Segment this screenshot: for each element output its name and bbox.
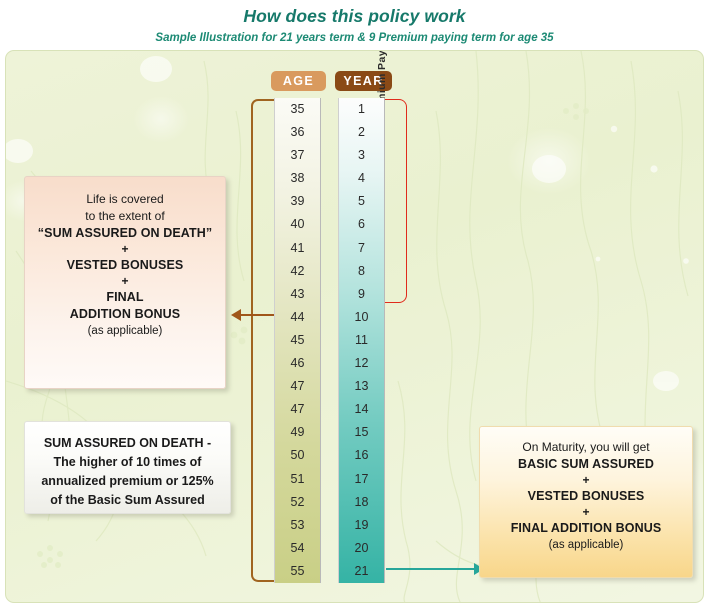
maturity-panel-plus-1: +: [488, 473, 684, 488]
death-definition-line-1: SUM ASSURED ON DEATH -: [33, 434, 222, 453]
year-cell: 11: [339, 329, 384, 352]
age-cell: 42: [275, 260, 320, 283]
death-panel-final: FINAL: [35, 289, 215, 306]
age-cell: 47: [275, 375, 320, 398]
age-cell: 41: [275, 237, 320, 260]
year-cell: 10: [339, 306, 384, 329]
year-column: 123456789101112131415161718192021: [338, 98, 385, 583]
year-cell: 8: [339, 260, 384, 283]
year-cell: 1: [339, 98, 384, 121]
death-panel-vested-bonuses: VESTED BONUSES: [35, 257, 215, 274]
age-cell: 46: [275, 352, 320, 375]
maturity-panel-vested-bonuses: VESTED BONUSES: [488, 488, 684, 505]
year-cell: 6: [339, 213, 384, 236]
age-cell: 45: [275, 329, 320, 352]
year-cell: 21: [339, 560, 384, 583]
death-panel-as-applicable: (as applicable): [35, 323, 215, 340]
page-header: How does this policy work Sample Illustr…: [0, 0, 709, 52]
age-cell: 49: [275, 421, 320, 444]
death-definition-line-3: annualized premium or 125%: [33, 472, 222, 491]
premium-paying-term-bracket: [385, 99, 407, 303]
maturity-benefit-arrow-line: [386, 568, 476, 570]
death-benefit-panel: Life is covered to the extent of “SUM AS…: [24, 176, 226, 389]
year-cell: 15: [339, 421, 384, 444]
page-title: How does this policy work: [0, 0, 709, 27]
death-definition-line-2: The higher of 10 times of: [33, 453, 222, 472]
sum-assured-on-death-definition-panel: SUM ASSURED ON DEATH - The higher of 10 …: [24, 421, 231, 514]
age-cell: 38: [275, 167, 320, 190]
year-cell: 7: [339, 237, 384, 260]
age-cell: 43: [275, 283, 320, 306]
death-benefit-arrow-line: [239, 314, 274, 316]
age-cell: 35: [275, 98, 320, 121]
age-column-badge: AGE: [271, 71, 326, 91]
year-cell: 5: [339, 190, 384, 213]
age-cell: 50: [275, 444, 320, 467]
year-cell: 16: [339, 444, 384, 467]
year-cell: 3: [339, 144, 384, 167]
age-cell: 55: [275, 560, 320, 583]
year-cell: 18: [339, 491, 384, 514]
age-cell: 47: [275, 398, 320, 421]
year-cell: 4: [339, 167, 384, 190]
age-cell: 53: [275, 514, 320, 537]
illustration-canvas: AGE YEAR Premium Paying Term 35363738394…: [5, 50, 704, 603]
maturity-panel-as-applicable: (as applicable): [488, 537, 684, 554]
age-cell: 37: [275, 144, 320, 167]
age-cell: 52: [275, 491, 320, 514]
maturity-panel-basic-sum-assured: BASIC SUM ASSURED: [488, 456, 684, 473]
maturity-panel-plus-2: +: [488, 505, 684, 520]
maturity-panel-line-1: On Maturity, you will get: [488, 439, 684, 456]
age-column: 3536373839404142434445464747495051525354…: [274, 98, 321, 583]
death-benefit-arrow-head: [231, 309, 241, 321]
age-cell: 40: [275, 213, 320, 236]
age-cell: 39: [275, 190, 320, 213]
death-panel-line-1: Life is covered: [35, 191, 215, 208]
year-cell: 19: [339, 514, 384, 537]
death-panel-plus-2: +: [35, 274, 215, 289]
year-cell: 17: [339, 468, 384, 491]
age-range-bracket: [251, 99, 274, 582]
year-cell: 14: [339, 398, 384, 421]
death-panel-addition-bonus: ADDITION BONUS: [35, 306, 215, 323]
year-cell: 12: [339, 352, 384, 375]
death-definition-line-4: of the Basic Sum Assured: [33, 491, 222, 510]
year-cell: 13: [339, 375, 384, 398]
death-panel-plus-1: +: [35, 242, 215, 257]
age-cell: 54: [275, 537, 320, 560]
age-cell: 51: [275, 468, 320, 491]
page-subtitle: Sample Illustration for 21 years term & …: [0, 27, 709, 46]
year-cell: 9: [339, 283, 384, 306]
death-panel-line-2: to the extent of: [35, 208, 215, 225]
year-cell: 2: [339, 121, 384, 144]
maturity-benefit-panel: On Maturity, you will get BASIC SUM ASSU…: [479, 426, 693, 578]
age-cell: 36: [275, 121, 320, 144]
maturity-panel-final-addition-bonus: FINAL ADDITION BONUS: [488, 520, 684, 537]
age-cell: 44: [275, 306, 320, 329]
death-panel-sum-assured-on-death: “SUM ASSURED ON DEATH”: [35, 225, 215, 242]
year-cell: 20: [339, 537, 384, 560]
